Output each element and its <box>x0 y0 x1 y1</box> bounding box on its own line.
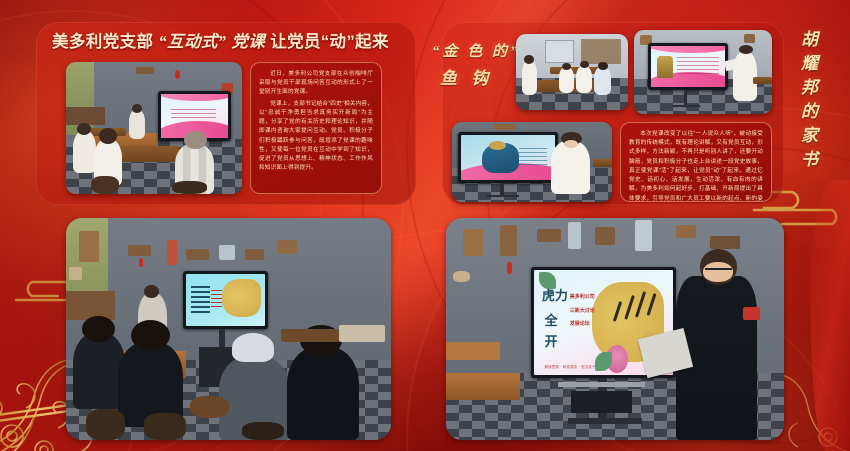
room-scene <box>516 34 628 110</box>
jacket-badge <box>743 307 760 320</box>
title-emphasis: 互动式 <box>167 32 218 51</box>
interactive-whiteboard <box>458 132 557 183</box>
right-article-box: 本次党课改变了以往“一人说众人听”，被动接受教育的传统模式，既有理论讲解，又有党… <box>620 122 772 202</box>
title-quote-2: “动” <box>321 33 355 51</box>
photo-mid-right <box>452 122 612 202</box>
screen-title-line-1: 虎力 <box>542 289 568 302</box>
interactive-whiteboard <box>648 43 728 90</box>
gold-title-line-2: 鱼 钩 <box>440 64 493 89</box>
title-quote-close: ” <box>218 32 227 51</box>
room-scene <box>452 122 612 202</box>
title-part-2: 党课 <box>231 32 265 51</box>
title-part-3: 让党员 <box>270 33 321 51</box>
left-article-box: 近日，美多利公司党支部在众创咖啡厅采取与党员干部现场问答互动的形式上了一堂别开生… <box>250 62 382 194</box>
room-scene <box>66 62 242 194</box>
screen-subtitle-line-2: 三新大讨论 <box>570 309 595 315</box>
interactive-whiteboard <box>183 271 268 329</box>
room-scene <box>634 30 772 114</box>
title-quote-open: “ <box>158 32 167 51</box>
room-scene <box>66 218 391 440</box>
title-part-4: 起来 <box>355 33 389 51</box>
photo-top-mid-1 <box>516 34 628 110</box>
right-article-p1: 本次党课改变了以往“一人说众人听”，被动接受教育的传统模式，既有理论讲解，又有党… <box>629 130 763 202</box>
poster-canvas: 美多利党支部 “互动式” 党课 让党员“动”起来 <box>0 0 850 451</box>
left-article-p1: 近日，美多利公司党支部在众创咖啡厅采取与党员干部现场问答互动的形式上了一堂别开生… <box>259 70 373 98</box>
gold-title-line-1: “金 色 的” <box>432 40 521 61</box>
photo-top-mid-2 <box>634 30 772 114</box>
photo-bottom-left <box>66 218 391 440</box>
title-part-1: 美多利党支部 <box>52 33 153 51</box>
screen-title-line-2: 全 <box>545 314 558 327</box>
red-drape-decor <box>810 180 850 451</box>
page-title: 美多利党支部 “互动式” 党课 让党员“动”起来 <box>52 30 402 54</box>
screen-subtitle-line-1: 美多利公司 <box>570 295 595 301</box>
vertical-title: 胡耀邦的家书 <box>790 30 816 174</box>
screen-footnote: 解放思想 · 转变观念 · 担当实干 <box>545 364 596 369</box>
photo-bottom-right: 虎力 全 开 美多利公司 三新大讨论 发展论坛 解放思想 · 转变观念 · 担当… <box>446 218 784 440</box>
left-article-p2: 党课上，支部书记结合“四史”相关内容，以“忠诚干净勇担当求真务实开新局”为主题，… <box>259 100 373 174</box>
room-scene: 虎力 全 开 美多利公司 三新大讨论 发展论坛 解放思想 · 转变观念 · 担当… <box>446 218 784 440</box>
screen-title-line-3: 开 <box>545 335 558 348</box>
screen-subtitle-line-3: 发展论坛 <box>570 322 590 328</box>
photo-top-left <box>66 62 242 194</box>
